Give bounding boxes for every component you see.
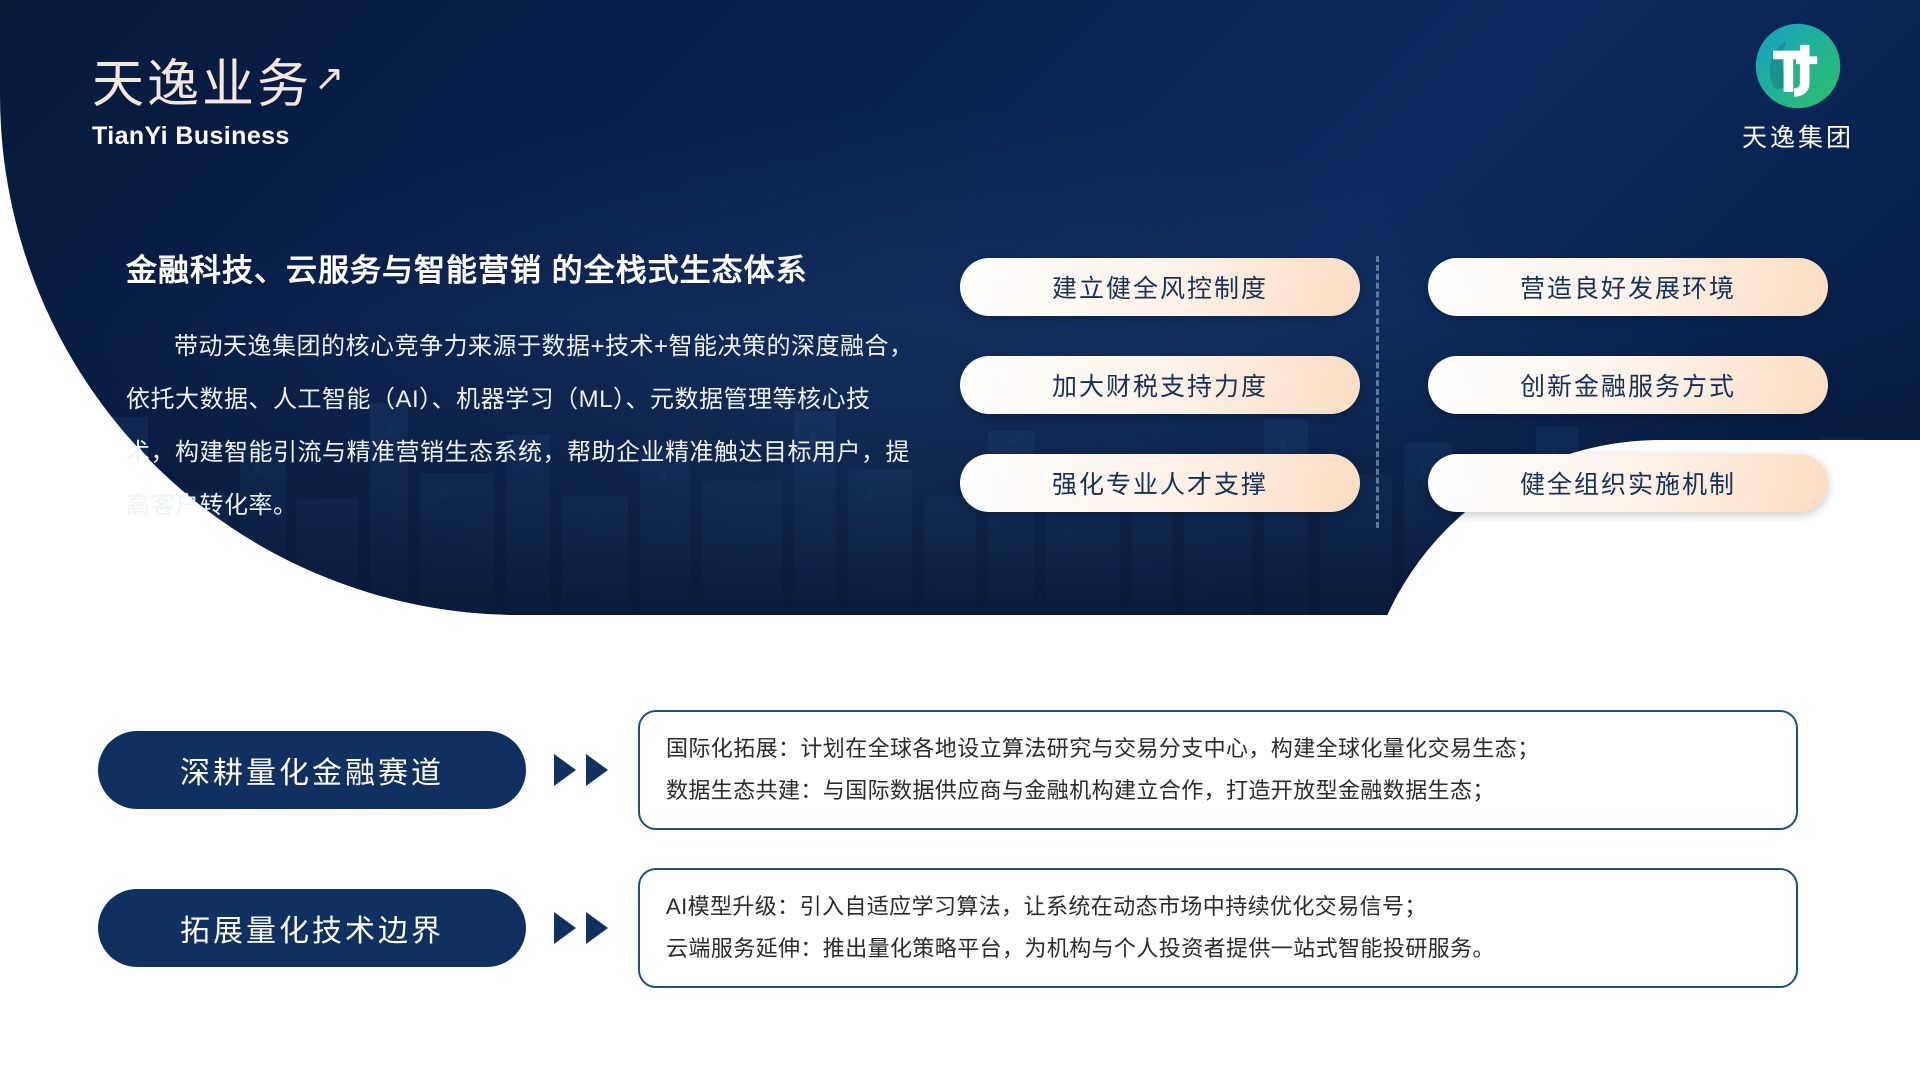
triangle-right-icon	[554, 912, 576, 944]
double-arrow-icon	[554, 912, 608, 944]
strategy-row: 深耕量化金融赛道 国际化拓展：计划在全球各地设立算法研究与交易分支中心，构建全球…	[0, 710, 1920, 830]
strategy-row: 拓展量化技术边界 AI模型升级：引入自适应学习算法，让系统在动态市场中持续优化交…	[0, 868, 1920, 988]
pill-label: 创新金融服务方式	[1520, 367, 1736, 403]
intro-paragraph: 带动天逸集团的核心竞争力来源于数据+技术+智能决策的深度融合，依托大数据、人工智…	[126, 320, 916, 532]
strategy-card-line: 数据生态共建：与国际数据供应商与金融机构建立合作，打造开放型金融数据生态；	[666, 770, 1770, 812]
pill-label: 建立健全风控制度	[1052, 269, 1268, 305]
pill-item[interactable]: 建立健全风控制度	[960, 258, 1360, 316]
triangle-right-icon	[554, 754, 576, 786]
triangle-right-icon	[586, 912, 608, 944]
slide-root: 天逸业务↗ TianYi Business 天逸集团 金融科技、云服务与智能营销…	[0, 0, 1920, 1080]
strategy-card-line: 国际化拓展：计划在全球各地设立算法研究与交易分支中心，构建全球化量化交易生态；	[666, 728, 1770, 770]
brand-block: 天逸业务↗ TianYi Business	[92, 56, 347, 151]
pill-item[interactable]: 创新金融服务方式	[1428, 356, 1828, 414]
pill-label: 加大财税支持力度	[1052, 367, 1268, 403]
logo-wordmark: 天逸集团	[1742, 118, 1854, 154]
strategy-badge-label: 拓展量化技术边界	[180, 906, 444, 950]
strategy-rows: 深耕量化金融赛道 国际化拓展：计划在全球各地设立算法研究与交易分支中心，构建全球…	[0, 710, 1920, 1026]
pill-grid: 建立健全风控制度 营造良好发展环境 加大财税支持力度 创新金融服务方式 强化专业…	[960, 258, 1860, 512]
strategy-badge[interactable]: 深耕量化金融赛道	[98, 731, 526, 809]
pill-item[interactable]: 营造良好发展环境	[1428, 258, 1828, 316]
strategy-badge[interactable]: 拓展量化技术边界	[98, 889, 526, 967]
pill-item[interactable]: 强化专业人才支撑	[960, 454, 1360, 512]
company-logo: 天逸集团	[1742, 18, 1854, 154]
pill-label: 健全组织实施机制	[1520, 465, 1736, 501]
page-subtitle: TianYi Business	[92, 122, 347, 151]
strategy-card-line: AI模型升级：引入自适应学习算法，让系统在动态市场中持续优化交易信号；	[666, 886, 1770, 928]
double-arrow-icon	[554, 754, 608, 786]
strategy-badge-label: 深耕量化金融赛道	[180, 748, 444, 792]
pill-label: 强化专业人才支撑	[1052, 465, 1268, 501]
intro-block: 金融科技、云服务与智能营销 的全栈式生态体系 带动天逸集团的核心竞争力来源于数据…	[126, 245, 926, 532]
pill-item[interactable]: 加大财税支持力度	[960, 356, 1360, 414]
arrow-up-right-icon: ↗	[314, 57, 347, 98]
pill-item[interactable]: 健全组织实施机制	[1428, 454, 1828, 512]
intro-headline: 金融科技、云服务与智能营销 的全栈式生态体系	[126, 245, 926, 290]
logo-mark-icon	[1750, 18, 1846, 114]
triangle-right-icon	[586, 754, 608, 786]
page-title: 天逸业务↗	[92, 56, 347, 116]
pill-label: 营造良好发展环境	[1520, 269, 1736, 305]
strategy-card: 国际化拓展：计划在全球各地设立算法研究与交易分支中心，构建全球化量化交易生态； …	[638, 710, 1798, 830]
page-title-text: 天逸业务	[92, 56, 312, 114]
strategy-card: AI模型升级：引入自适应学习算法，让系统在动态市场中持续优化交易信号； 云端服务…	[638, 868, 1798, 988]
strategy-card-line: 云端服务延伸：推出量化策略平台，为机构与个人投资者提供一站式智能投研服务。	[666, 928, 1770, 970]
